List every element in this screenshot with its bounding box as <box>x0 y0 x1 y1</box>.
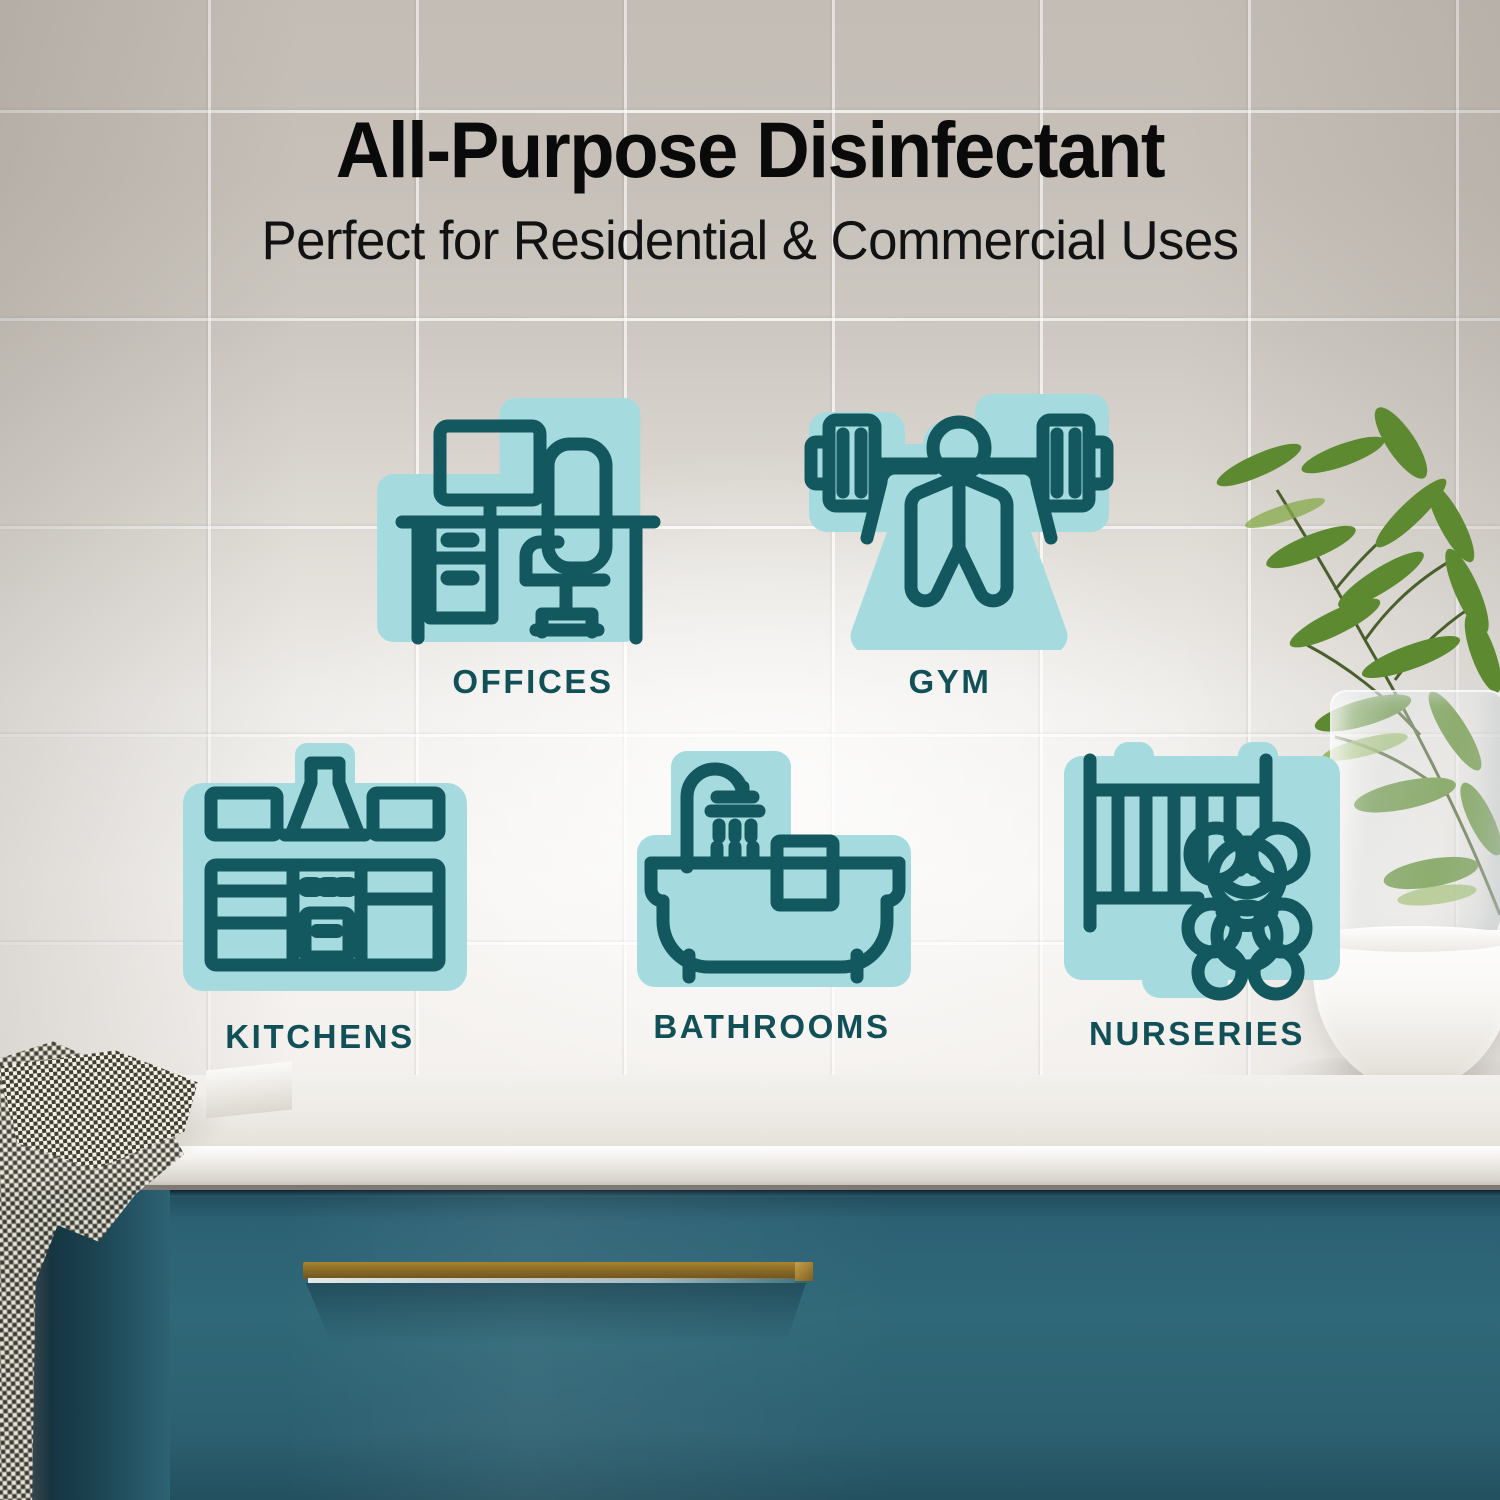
product-infographic: All-Purpose Disinfectant Perfect for Res… <box>0 0 1500 1500</box>
tile-label-offices: OFFICES <box>398 663 668 701</box>
bathtub-shower-icon <box>625 745 925 1000</box>
cabinet-sheen <box>280 1190 900 1500</box>
cabinet-handle <box>303 1262 800 1279</box>
office-desk-chair-icon <box>370 398 700 658</box>
cabinet-handle-end <box>795 1262 813 1281</box>
feature-tile-nurseries[interactable]: NURSERIES <box>1050 730 1350 1070</box>
feature-tile-bathrooms[interactable]: BATHROOMS <box>625 745 925 1075</box>
tile-label-gym: GYM <box>805 663 1095 701</box>
handle-highlight <box>308 1278 795 1283</box>
tile-label-kitchens: KITCHENS <box>170 1018 470 1056</box>
crib-teddy-bear-icon <box>1050 730 1350 1002</box>
handle-shadow <box>306 1283 806 1343</box>
heading-block: All-Purpose Disinfectant Perfect for Res… <box>0 0 1500 272</box>
kitchen-cabinets-stove-icon <box>175 735 475 1005</box>
tile-label-bathrooms: BATHROOMS <box>617 1008 927 1046</box>
page-title: All-Purpose Disinfectant <box>45 108 1455 192</box>
feature-tile-offices[interactable]: OFFICES <box>370 398 700 728</box>
cabinet-left-corner <box>40 1190 170 1500</box>
feature-tile-gym[interactable]: GYM <box>795 388 1125 728</box>
feature-tile-kitchens[interactable]: KITCHENS <box>175 735 475 1075</box>
tile-label-nurseries: NURSERIES <box>1042 1015 1352 1053</box>
page-subtitle: Perfect for Residential & Commercial Use… <box>30 208 1470 272</box>
weightlifter-barbell-icon <box>795 388 1125 650</box>
